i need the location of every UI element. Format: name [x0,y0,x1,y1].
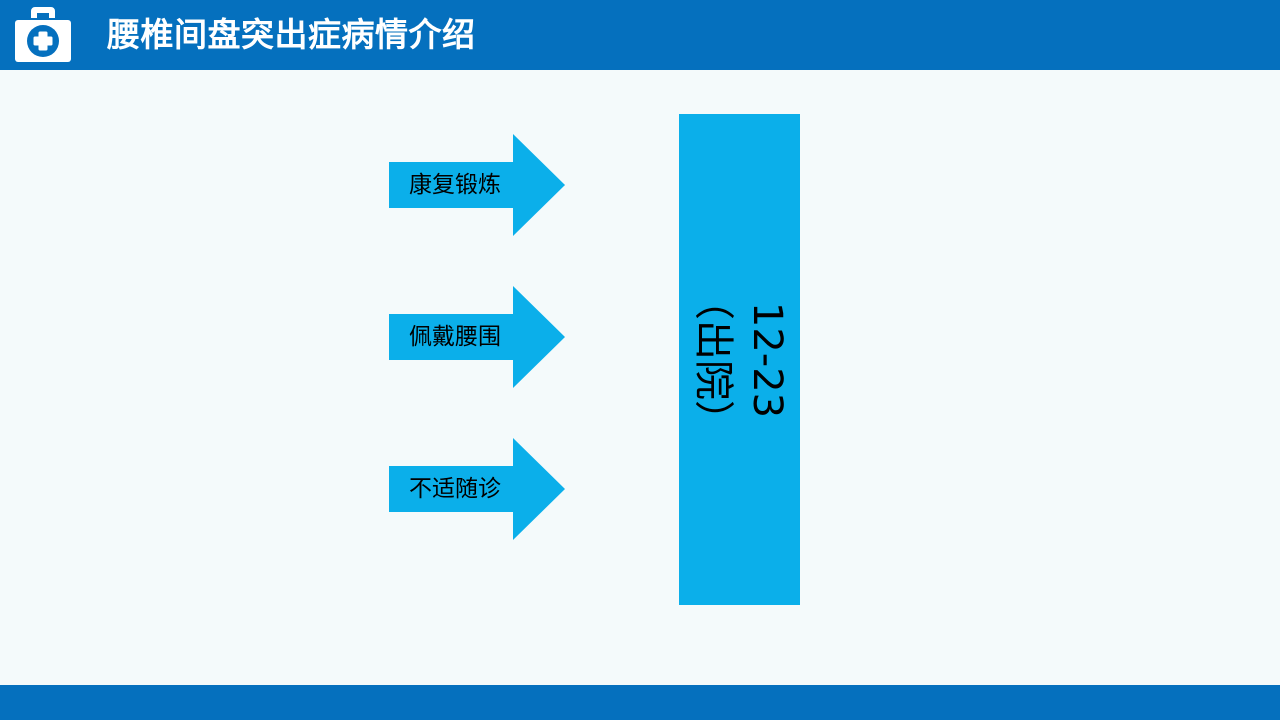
process-arrow-3-label: 不适随诊 [389,466,521,512]
slide-canvas: 腰椎间盘突出症病情介绍 康复锻炼 佩戴腰围 [0,0,1280,720]
stage-banner-date: 12-23 [740,130,794,590]
stage-banner-status: （出院） [686,130,740,590]
stage-banner-text-wrap: 12-23 （出院） [679,114,800,605]
process-arrow-2-label: 佩戴腰围 [389,314,521,360]
process-arrow-1-label: 康复锻炼 [389,162,521,208]
medical-bag-icon [12,4,74,66]
header-bar: 腰椎间盘突出症病情介绍 [0,0,1280,70]
slide-content: 康复锻炼 佩戴腰围 不适随诊 12-23 （出院） [0,70,1280,685]
process-arrow-3[interactable]: 不适随诊 [389,438,565,540]
process-arrow-2[interactable]: 佩戴腰围 [389,286,565,388]
stage-banner[interactable]: 12-23 （出院） [679,114,800,605]
footer-bar [0,685,1280,720]
process-arrow-1[interactable]: 康复锻炼 [389,134,565,236]
page-title: 腰椎间盘突出症病情介绍 [107,12,476,60]
stage-banner-text: 12-23 （出院） [686,130,794,590]
